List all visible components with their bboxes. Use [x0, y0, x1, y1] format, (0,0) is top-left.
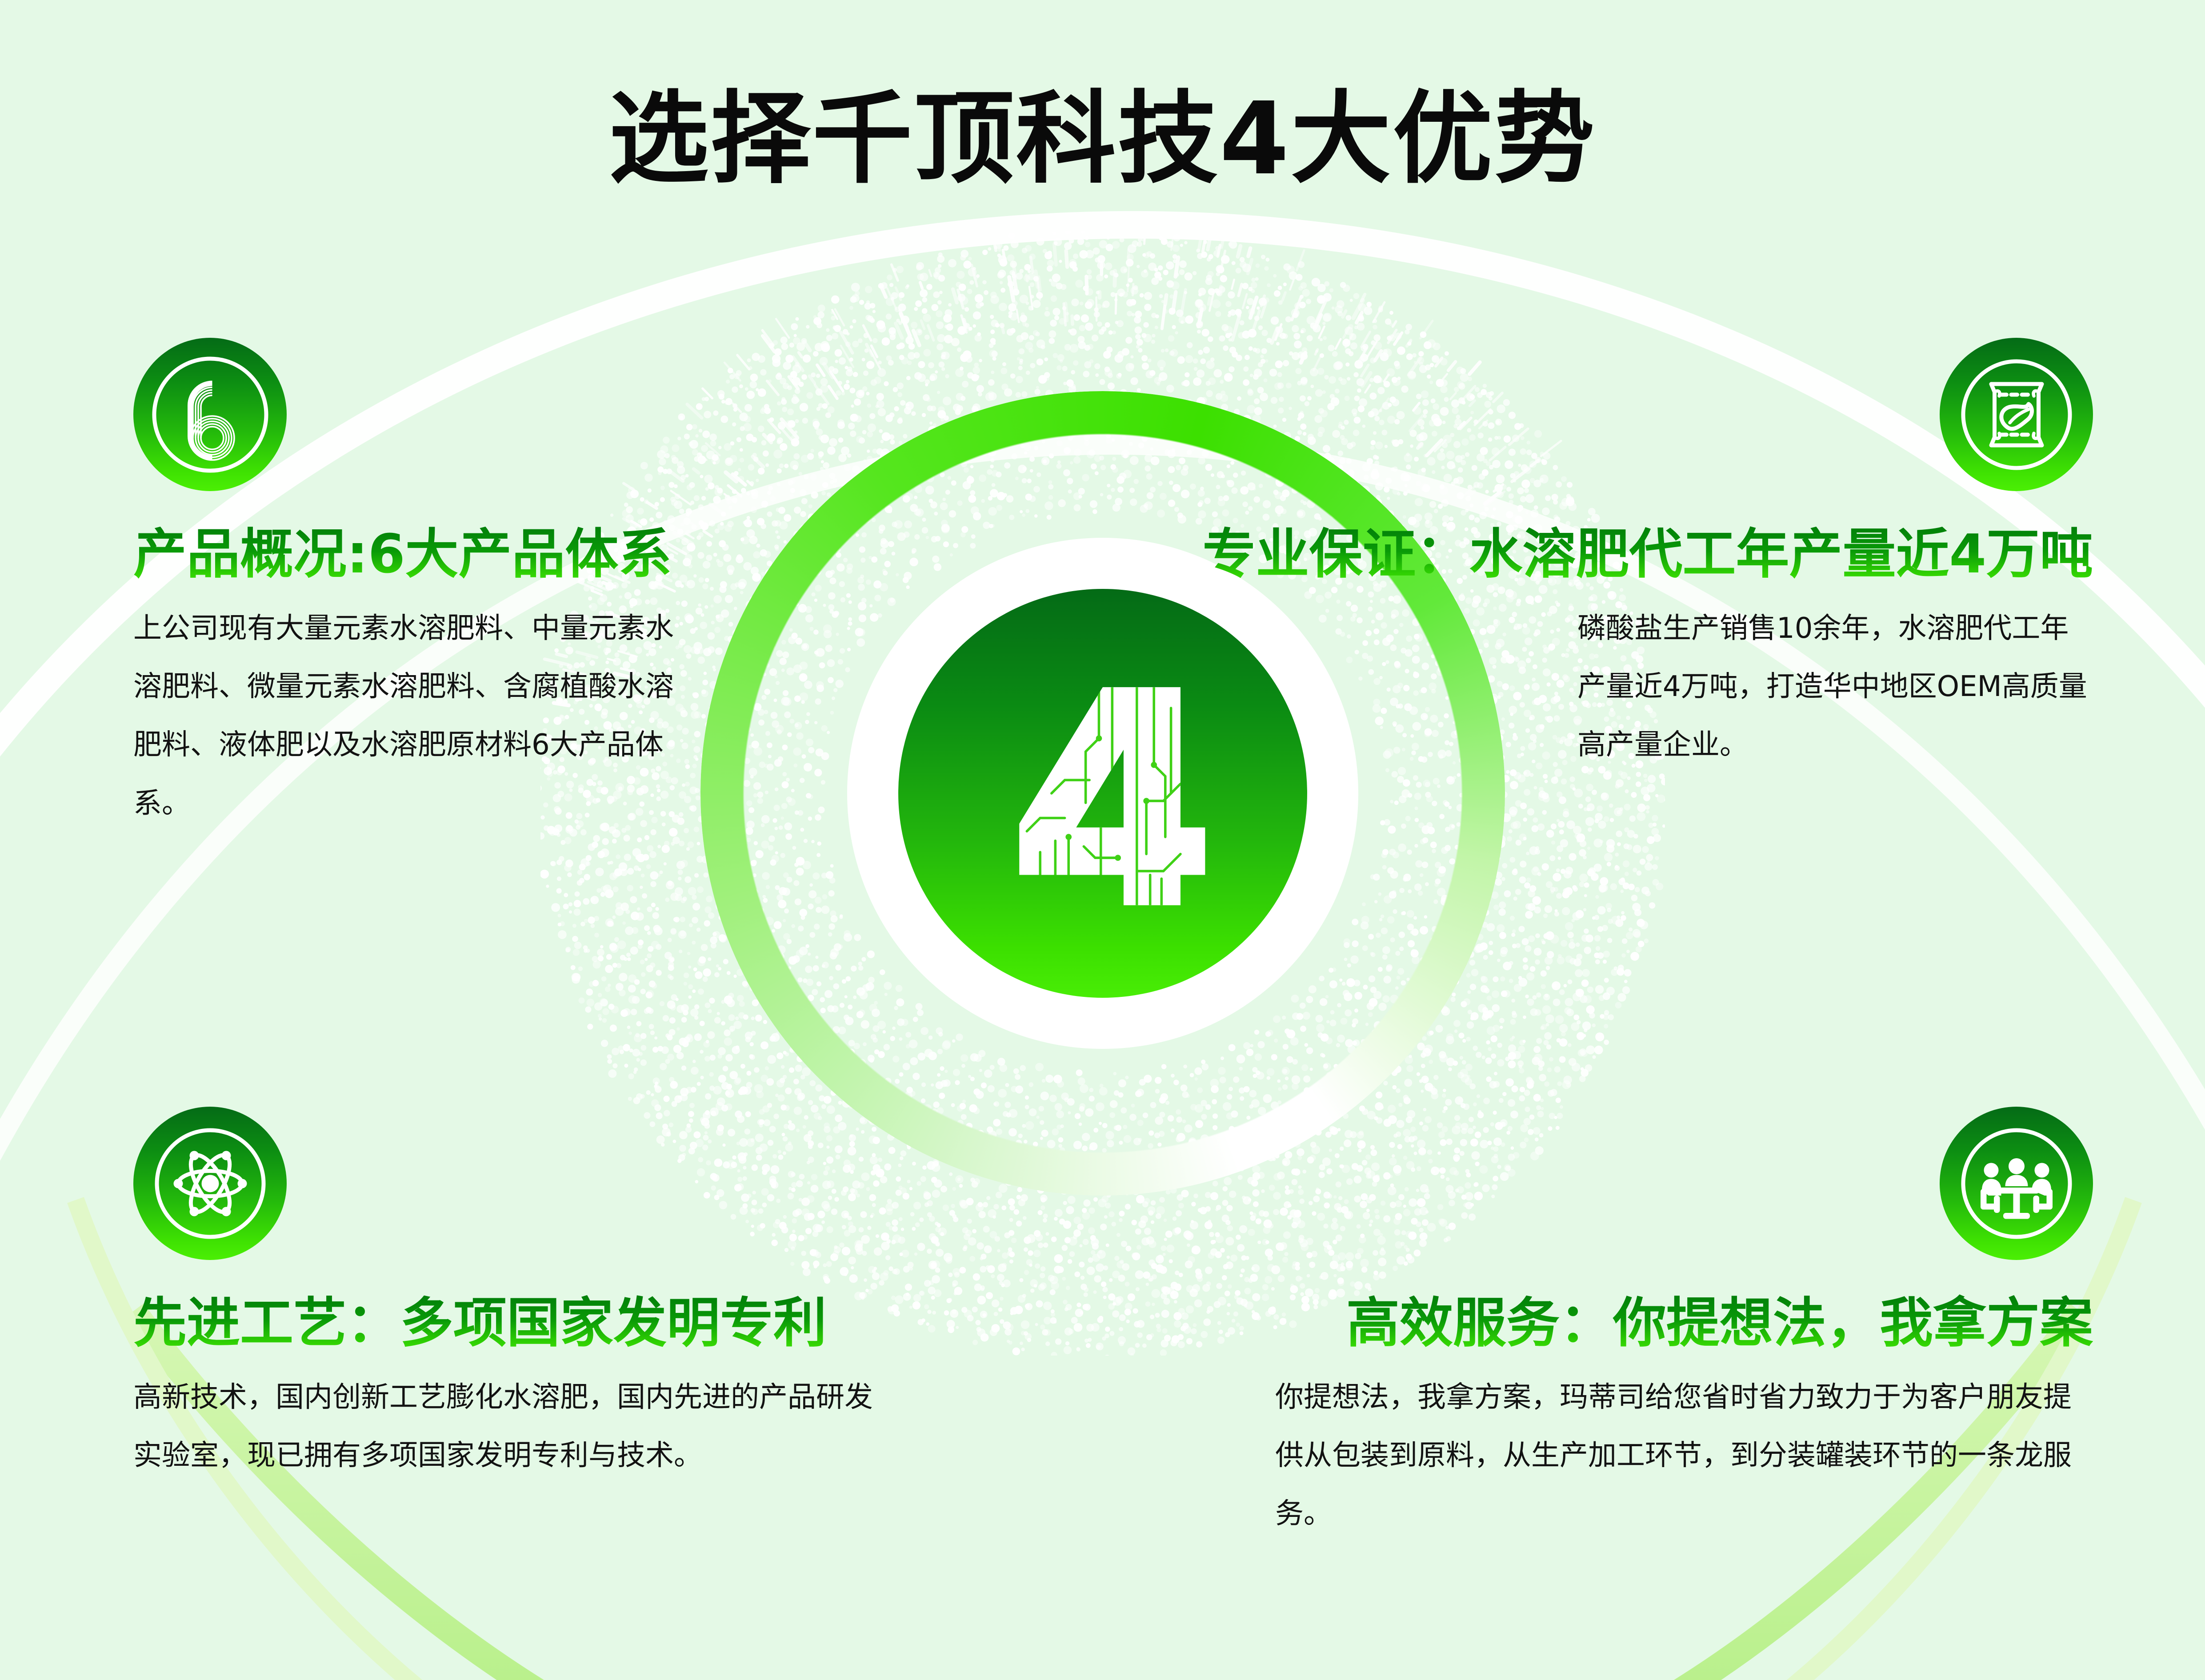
feature-block-bottom-right: 高效服务：你提想法，我拿方案 你提想法，我拿方案，玛蒂司给您省时省力致力于为客户…: [1275, 1107, 2093, 1544]
atom-icon: [133, 1107, 287, 1260]
feature-body: 磷酸盐生产销售10余年，水溶肥代工年产量近4万吨，打造华中地区OEM高质量高产量…: [1577, 600, 2093, 775]
team-meeting-icon: [1940, 1107, 2093, 1260]
feature-block-top-right: 专业保证：水溶肥代工年产量近4万吨 磷酸盐生产销售10余年，水溶肥代工年产量近4…: [1177, 338, 2093, 775]
feature-heading: 专业保证：水溶肥代工年产量近4万吨: [1177, 521, 2093, 588]
feature-heading: 高效服务：你提想法，我拿方案: [1275, 1290, 2093, 1357]
page-title: 选择千顶科技4大优势: [0, 84, 2205, 195]
feature-body: 你提想法，我拿方案，玛蒂司给您省时省力致力于为客户朋友提供从包装到原料，从生产加…: [1275, 1368, 2075, 1544]
feature-heading: 产品概况:6大产品体系: [133, 521, 720, 588]
fertilizer-bag-icon: [1940, 338, 2093, 491]
feature-block-bottom-left: 先进工艺：多项国家发明专利 高新技术，国内创新工艺膨化水溶肥，国内先进的产品研发…: [133, 1107, 907, 1485]
feature-block-top-left: 产品概况:6大产品体系 上公司现有大量元素水溶肥料、中量元素水溶肥料、微量元素水…: [133, 338, 720, 833]
poster-stage: 选择千顶科技4大优势: [0, 0, 2205, 1680]
feature-body: 高新技术，国内创新工艺膨化水溶肥，国内先进的产品研发实验室，现已拥有多项国家发明…: [133, 1368, 889, 1485]
number-six-spiral-icon: [133, 338, 287, 491]
feature-heading: 先进工艺：多项国家发明专利: [133, 1290, 907, 1357]
feature-body: 上公司现有大量元素水溶肥料、中量元素水溶肥料、微量元素水溶肥料、含腐植酸水溶肥料…: [133, 600, 698, 833]
